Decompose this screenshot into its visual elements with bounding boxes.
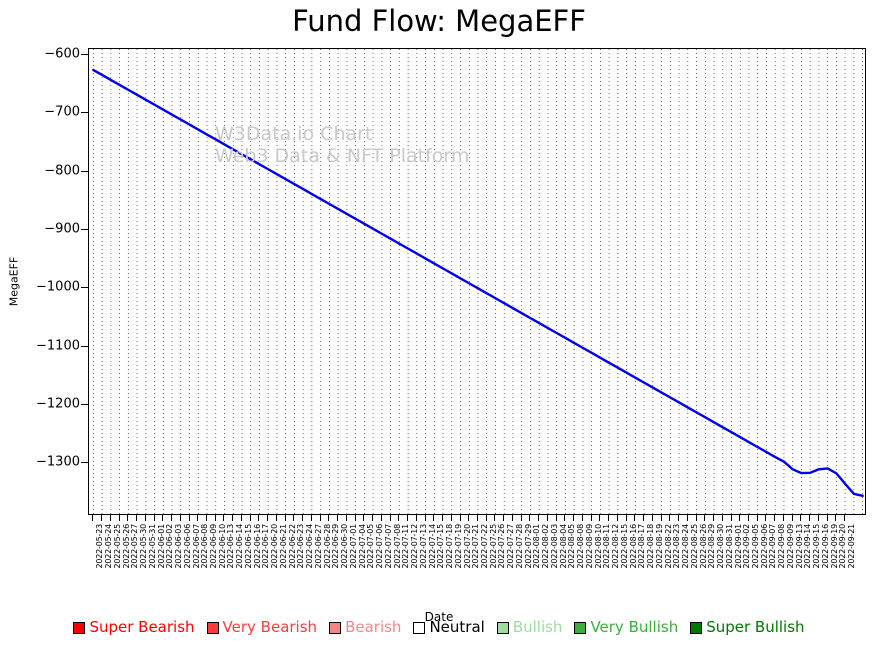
x-tick-label: 2022-05-23 bbox=[95, 524, 104, 569]
x-tick-label: 2022-08-15 bbox=[620, 524, 629, 569]
x-tick-mark bbox=[381, 515, 382, 521]
x-tick-label: 2022-08-19 bbox=[655, 524, 664, 569]
chart-figure: Fund Flow: MegaEFF 2022-09-21 MegaEFF: -… bbox=[0, 0, 878, 646]
x-tick-mark bbox=[250, 515, 251, 521]
x-tick-mark bbox=[512, 515, 513, 521]
x-tick-mark bbox=[731, 515, 732, 521]
x-tick-mark bbox=[311, 515, 312, 521]
x-tick-mark bbox=[398, 515, 399, 521]
x-tick-label: 2022-08-17 bbox=[637, 524, 646, 569]
x-tick-label: 2022-07-22 bbox=[480, 524, 489, 569]
y-tick-mark bbox=[81, 462, 88, 463]
x-tick-mark bbox=[162, 515, 163, 521]
x-tick-label: 2022-09-05 bbox=[751, 524, 760, 569]
x-tick-mark bbox=[573, 515, 574, 521]
x-tick-mark bbox=[154, 515, 155, 521]
x-tick-mark bbox=[608, 515, 609, 521]
x-tick-mark bbox=[197, 515, 198, 521]
x-tick-mark bbox=[346, 515, 347, 521]
x-tick-mark bbox=[529, 515, 530, 521]
x-tick-mark bbox=[293, 515, 294, 521]
x-tick-mark bbox=[582, 515, 583, 521]
plot-area: W3Data.io Chart Web3 Data & NFT Platform bbox=[88, 48, 866, 515]
x-tick-mark bbox=[302, 515, 303, 521]
x-tick-mark bbox=[276, 515, 277, 521]
x-tick-label: 2022-07-06 bbox=[375, 524, 384, 569]
x-tick-label: 2022-06-08 bbox=[200, 524, 209, 569]
x-tick-label: 2022-09-21 bbox=[847, 524, 856, 569]
x-tick-label: 2022-05-25 bbox=[113, 524, 122, 569]
x-tick-label: 2022-05-24 bbox=[104, 524, 113, 569]
x-tick-label: 2022-07-21 bbox=[471, 524, 480, 569]
x-tick-label: 2022-08-31 bbox=[725, 524, 734, 569]
legend-label: Very Bullish bbox=[590, 620, 678, 635]
x-tick-label: 2022-07-07 bbox=[384, 524, 393, 569]
x-tick-mark bbox=[704, 515, 705, 521]
x-tick-label: 2022-07-18 bbox=[445, 524, 454, 569]
x-tick-mark bbox=[92, 515, 93, 521]
x-tick-mark bbox=[783, 515, 784, 521]
x-tick-label: 2022-05-30 bbox=[139, 524, 148, 569]
x-tick-mark bbox=[696, 515, 697, 521]
x-tick-mark bbox=[320, 515, 321, 521]
x-tick-mark bbox=[617, 515, 618, 521]
x-tick-label: 2022-06-21 bbox=[279, 524, 288, 569]
x-tick-mark bbox=[827, 515, 828, 521]
x-tick-mark bbox=[643, 515, 644, 521]
x-tick-mark bbox=[486, 515, 487, 521]
legend: Super BearishVery BearishBearishNeutralB… bbox=[0, 620, 878, 635]
x-tick-label: 2022-06-24 bbox=[305, 524, 314, 569]
x-tick-mark bbox=[669, 515, 670, 521]
x-tick-mark bbox=[748, 515, 749, 521]
y-tick-mark bbox=[81, 404, 88, 405]
x-tick-mark bbox=[835, 515, 836, 521]
legend-label: Super Bullish bbox=[706, 620, 804, 635]
legend-label: Neutral bbox=[429, 620, 484, 635]
x-tick-mark bbox=[390, 515, 391, 521]
x-tick-label: 2022-07-28 bbox=[515, 524, 524, 569]
legend-entry[interactable]: Bearish bbox=[329, 620, 401, 635]
y-tick-mark bbox=[81, 54, 88, 55]
x-tick-mark bbox=[285, 515, 286, 521]
x-tick-mark bbox=[145, 515, 146, 521]
x-tick-label: 2022-08-25 bbox=[690, 524, 699, 569]
x-tick-mark bbox=[451, 515, 452, 521]
x-tick-mark bbox=[599, 515, 600, 521]
x-tick-label: 2022-09-15 bbox=[812, 524, 821, 569]
x-tick-label: 2022-07-13 bbox=[419, 524, 428, 569]
legend-entry[interactable]: Super Bullish bbox=[690, 620, 804, 635]
x-tick-mark bbox=[844, 515, 845, 521]
x-tick-mark bbox=[547, 515, 548, 521]
legend-label: Bearish bbox=[345, 620, 401, 635]
y-tick-label: −700 bbox=[10, 105, 80, 120]
x-tick-mark bbox=[739, 515, 740, 521]
x-tick-label: 2022-06-15 bbox=[244, 524, 253, 569]
x-tick-mark bbox=[591, 515, 592, 521]
legend-swatch-icon bbox=[413, 622, 425, 634]
y-tick-mark bbox=[81, 229, 88, 230]
x-tick-mark bbox=[127, 515, 128, 521]
x-tick-label: 2022-07-01 bbox=[349, 524, 358, 569]
x-tick-mark bbox=[433, 515, 434, 521]
x-tick-label: 2022-09-09 bbox=[786, 524, 795, 569]
legend-swatch-icon bbox=[207, 622, 219, 634]
x-tick-mark bbox=[206, 515, 207, 521]
x-tick-mark bbox=[774, 515, 775, 521]
x-tick-label: 2022-09-02 bbox=[742, 524, 751, 569]
x-tick-mark bbox=[442, 515, 443, 521]
x-tick-label: 2022-06-27 bbox=[314, 524, 323, 569]
x-tick-mark bbox=[521, 515, 522, 521]
legend-swatch-icon bbox=[497, 622, 509, 634]
x-tick-mark bbox=[407, 515, 408, 521]
x-tick-mark bbox=[809, 515, 810, 521]
x-tick-label: 2022-07-11 bbox=[401, 524, 410, 569]
x-tick-mark bbox=[372, 515, 373, 521]
x-tick-label: 2022-07-05 bbox=[366, 524, 375, 569]
x-tick-mark bbox=[494, 515, 495, 521]
x-tick-label: 2022-07-19 bbox=[454, 524, 463, 569]
x-tick-mark bbox=[503, 515, 504, 521]
y-tick-label: −800 bbox=[10, 163, 80, 178]
x-tick-mark bbox=[626, 515, 627, 521]
x-tick-label: 2022-07-12 bbox=[410, 524, 419, 569]
y-tick-mark bbox=[81, 171, 88, 172]
y-tick-label: −1000 bbox=[10, 280, 80, 295]
x-tick-mark bbox=[416, 515, 417, 521]
x-tick-mark bbox=[800, 515, 801, 521]
x-tick-mark bbox=[765, 515, 766, 521]
y-tick-mark bbox=[81, 346, 88, 347]
x-tick-mark bbox=[460, 515, 461, 521]
page-title: Fund Flow: MegaEFF bbox=[0, 4, 878, 38]
x-tick-label: 2022-06-02 bbox=[165, 524, 174, 569]
x-tick-label: 2022-06-14 bbox=[235, 524, 244, 569]
x-tick-label: 2022-08-24 bbox=[681, 524, 690, 569]
x-tick-mark bbox=[241, 515, 242, 521]
x-tick-mark bbox=[258, 515, 259, 521]
x-tick-mark bbox=[634, 515, 635, 521]
x-tick-mark bbox=[468, 515, 469, 521]
x-tick-mark bbox=[652, 515, 653, 521]
y-tick-mark bbox=[81, 287, 88, 288]
legend-entry[interactable]: Very Bearish bbox=[207, 620, 318, 635]
x-tick-label: 2022-07-15 bbox=[436, 524, 445, 569]
x-tick-mark bbox=[355, 515, 356, 521]
x-tick-mark bbox=[687, 515, 688, 521]
x-tick-label: 2022-05-31 bbox=[148, 524, 157, 569]
x-tick-label: 2022-08-12 bbox=[611, 524, 620, 569]
x-tick-mark bbox=[328, 515, 329, 521]
x-tick-mark bbox=[119, 515, 120, 521]
x-tick-label: 2022-09-08 bbox=[777, 524, 786, 569]
x-tick-label: 2022-08-29 bbox=[707, 524, 716, 569]
x-tick-mark bbox=[477, 515, 478, 521]
x-tick-mark bbox=[538, 515, 539, 521]
legend-label: Bullish bbox=[513, 620, 563, 635]
plot-svg bbox=[89, 49, 866, 515]
x-tick-label: 2022-09-16 bbox=[821, 524, 830, 569]
legend-swatch-icon bbox=[574, 622, 586, 634]
legend-swatch-icon bbox=[329, 622, 341, 634]
x-tick-label: 2022-08-02 bbox=[541, 524, 550, 569]
x-tick-mark bbox=[101, 515, 102, 521]
x-tick-mark bbox=[564, 515, 565, 521]
y-tick-mark bbox=[81, 112, 88, 113]
y-tick-label: −600 bbox=[10, 46, 80, 61]
x-tick-label: 2022-08-18 bbox=[646, 524, 655, 569]
x-tick-mark bbox=[337, 515, 338, 521]
x-tick-label: 2022-08-08 bbox=[576, 524, 585, 569]
y-tick-label: −1300 bbox=[10, 455, 80, 470]
legend-label: Very Bearish bbox=[223, 620, 318, 635]
x-tick-mark bbox=[425, 515, 426, 521]
x-tick-label: 2022-06-09 bbox=[209, 524, 218, 569]
legend-swatch-icon bbox=[73, 622, 85, 634]
y-tick-label: −1200 bbox=[10, 397, 80, 412]
x-tick-mark bbox=[818, 515, 819, 521]
x-tick-mark bbox=[363, 515, 364, 521]
x-tick-label: 2022-08-09 bbox=[585, 524, 594, 569]
x-tick-label: 2022-08-30 bbox=[716, 524, 725, 569]
x-tick-mark bbox=[180, 515, 181, 521]
legend-swatch-icon bbox=[690, 622, 702, 634]
x-tick-mark bbox=[267, 515, 268, 521]
x-tick-label: 2022-06-30 bbox=[340, 524, 349, 569]
y-tick-label: −1100 bbox=[10, 338, 80, 353]
x-tick-mark bbox=[713, 515, 714, 521]
legend-entry[interactable]: Super Bearish bbox=[73, 620, 194, 635]
x-tick-mark bbox=[215, 515, 216, 521]
x-tick-label: 2022-08-23 bbox=[672, 524, 681, 569]
y-tick-label: −900 bbox=[10, 221, 80, 236]
x-tick-label: 2022-06-03 bbox=[174, 524, 183, 569]
x-tick-mark bbox=[232, 515, 233, 521]
x-tick-label: 2022-08-03 bbox=[550, 524, 559, 569]
x-tick-label: 2022-05-27 bbox=[130, 524, 139, 569]
x-tick-mark bbox=[136, 515, 137, 521]
x-tick-mark bbox=[556, 515, 557, 521]
x-tick-mark bbox=[757, 515, 758, 521]
x-tick-label: 2022-06-06 bbox=[183, 524, 192, 569]
x-tick-mark bbox=[110, 515, 111, 521]
gridlines bbox=[93, 49, 862, 515]
x-tick-mark bbox=[223, 515, 224, 521]
x-tick-mark bbox=[661, 515, 662, 521]
x-tick-mark bbox=[792, 515, 793, 521]
x-tick-label: 2022-07-27 bbox=[506, 524, 515, 569]
legend-entry[interactable]: Very Bullish bbox=[574, 620, 678, 635]
legend-entry[interactable]: Neutral bbox=[413, 620, 484, 635]
x-tick-mark bbox=[171, 515, 172, 521]
legend-entry[interactable]: Bullish bbox=[497, 620, 563, 635]
x-tick-mark bbox=[722, 515, 723, 521]
x-tick-mark bbox=[189, 515, 190, 521]
x-tick-label: 2022-06-20 bbox=[270, 524, 279, 569]
legend-label: Super Bearish bbox=[89, 620, 194, 635]
x-tick-mark bbox=[678, 515, 679, 521]
